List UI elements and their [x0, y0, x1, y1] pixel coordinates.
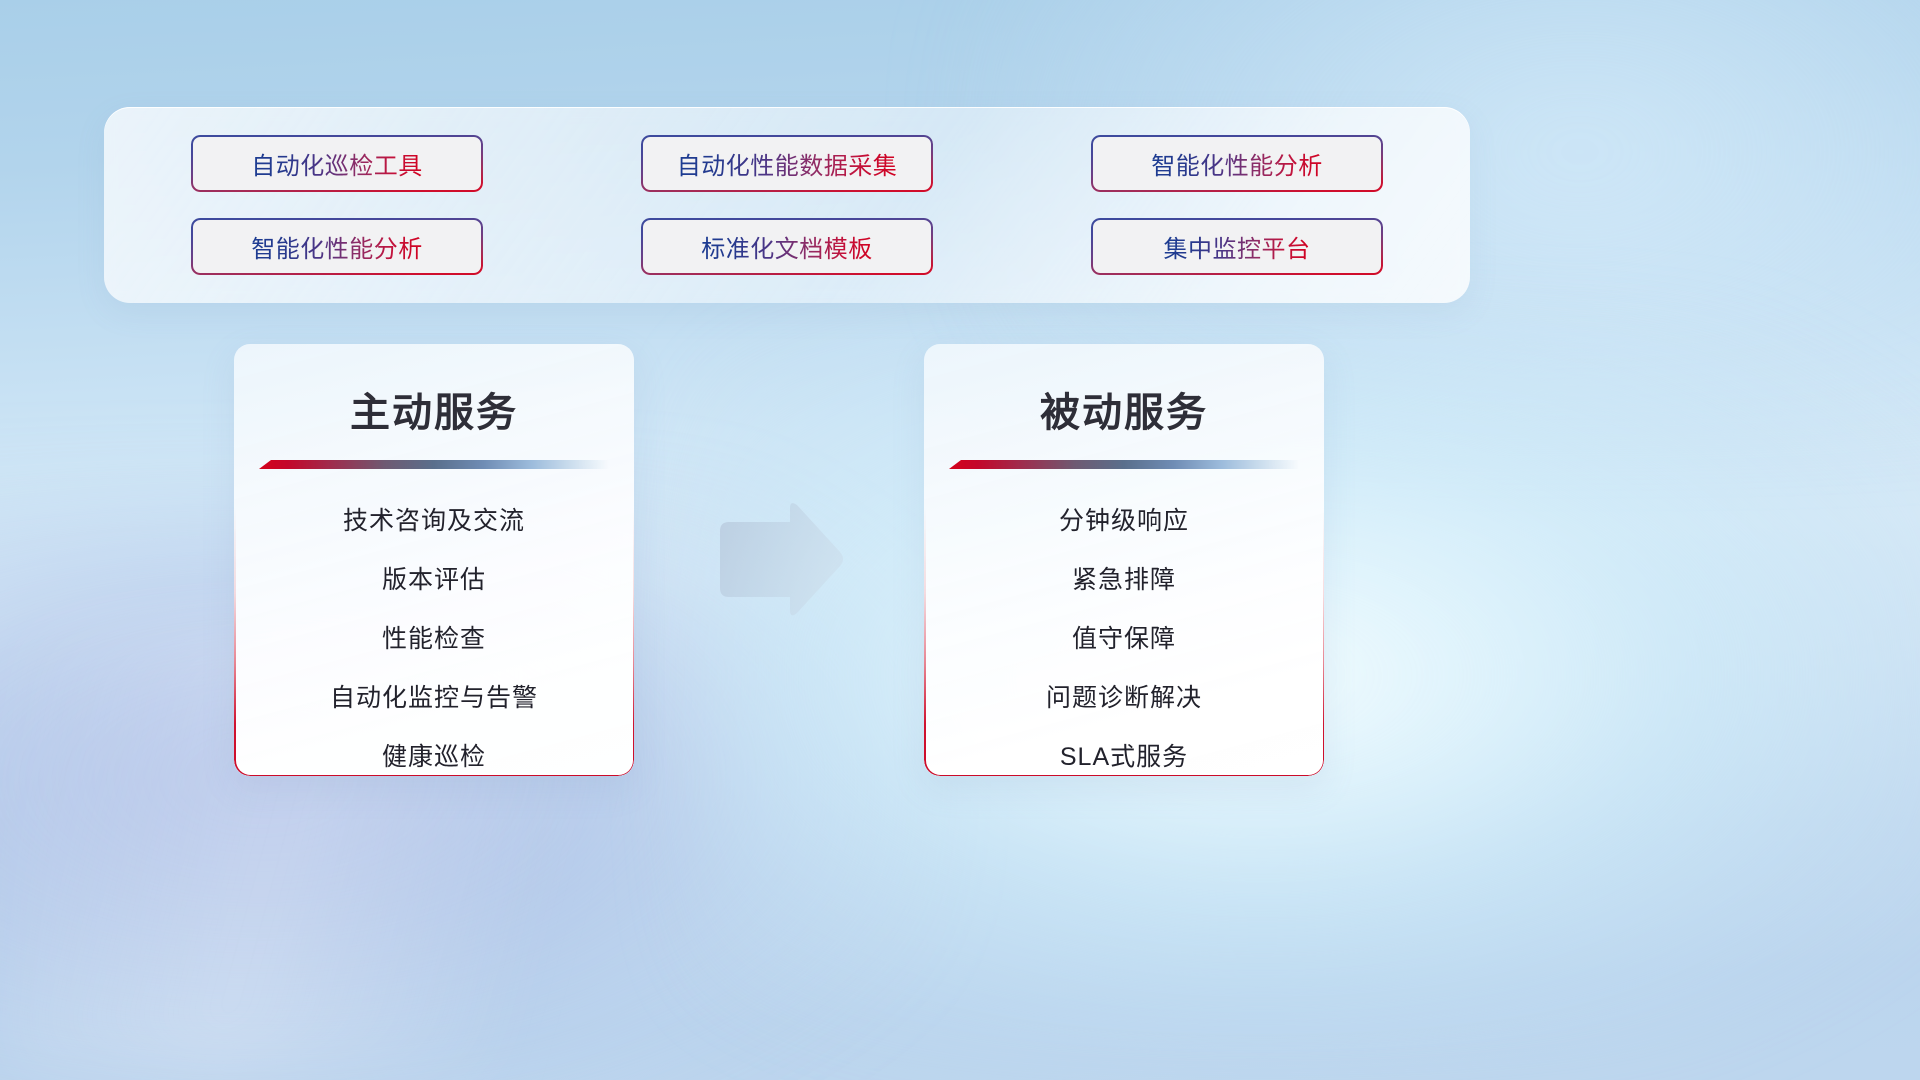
capability-tag-label: 自动化巡检工具	[251, 146, 423, 181]
list-item: 版本评估	[234, 568, 634, 593]
arrow-right-icon	[716, 501, 846, 619]
list-item: 值守保障	[924, 627, 1324, 652]
service-item-list-reactive: 分钟级响应 紧急排障 值守保障 问题诊断解决 SLA式服务	[924, 509, 1324, 770]
capability-tag-label: 智能化性能分析	[1151, 146, 1323, 181]
card-divider-proactive	[259, 460, 609, 469]
service-item-list-proactive: 技术咨询及交流 版本评估 性能检查 自动化监控与告警 健康巡检	[234, 509, 634, 770]
capability-tag-label: 智能化性能分析	[251, 229, 423, 264]
capability-tag-central-monitoring[interactable]: 集中监控平台	[1091, 218, 1383, 275]
service-card-reactive[interactable]: 被动服务 分钟级响应 紧急排障 值守保障 问题诊断解决 SLA式服务	[924, 344, 1324, 776]
card-title-reactive: 被动服务	[924, 380, 1324, 438]
infographic-canvas: 自动化巡检工具 自动化性能数据采集 智能化性能分析 智能化性能分析 标准化文档模…	[0, 0, 1920, 1080]
capability-tag-grid: 自动化巡检工具 自动化性能数据采集 智能化性能分析 智能化性能分析 标准化文档模…	[191, 135, 1383, 275]
arrow-right-icon-svg	[716, 501, 846, 619]
list-item: SLA式服务	[924, 745, 1324, 770]
list-item: 分钟级响应	[924, 509, 1324, 534]
capability-tag-label: 标准化文档模板	[701, 229, 873, 264]
list-item: 健康巡检	[234, 745, 634, 770]
card-divider-reactive	[949, 460, 1299, 469]
list-item: 紧急排障	[924, 568, 1324, 593]
capability-tag-panel: 自动化巡检工具 自动化性能数据采集 智能化性能分析 智能化性能分析 标准化文档模…	[104, 107, 1470, 303]
capability-tag-standard-doc-template[interactable]: 标准化文档模板	[641, 218, 933, 275]
service-card-proactive[interactable]: 主动服务 技术咨询及交流 版本评估 性能检查 自动化监控与告警 健康巡检	[234, 344, 634, 776]
list-item: 自动化监控与告警	[234, 686, 634, 711]
capability-tag-label: 自动化性能数据采集	[677, 146, 898, 181]
list-item: 问题诊断解决	[924, 686, 1324, 711]
list-item: 技术咨询及交流	[234, 509, 634, 534]
capability-tag-intelligent-perf-analysis-2[interactable]: 智能化性能分析	[191, 218, 483, 275]
list-item: 性能检查	[234, 627, 634, 652]
card-title-proactive: 主动服务	[234, 380, 634, 438]
capability-tag-label: 集中监控平台	[1164, 229, 1311, 264]
capability-tag-auto-inspection-tool[interactable]: 自动化巡检工具	[191, 135, 483, 192]
capability-tag-auto-perf-data-collection[interactable]: 自动化性能数据采集	[641, 135, 933, 192]
capability-tag-intelligent-perf-analysis[interactable]: 智能化性能分析	[1091, 135, 1383, 192]
